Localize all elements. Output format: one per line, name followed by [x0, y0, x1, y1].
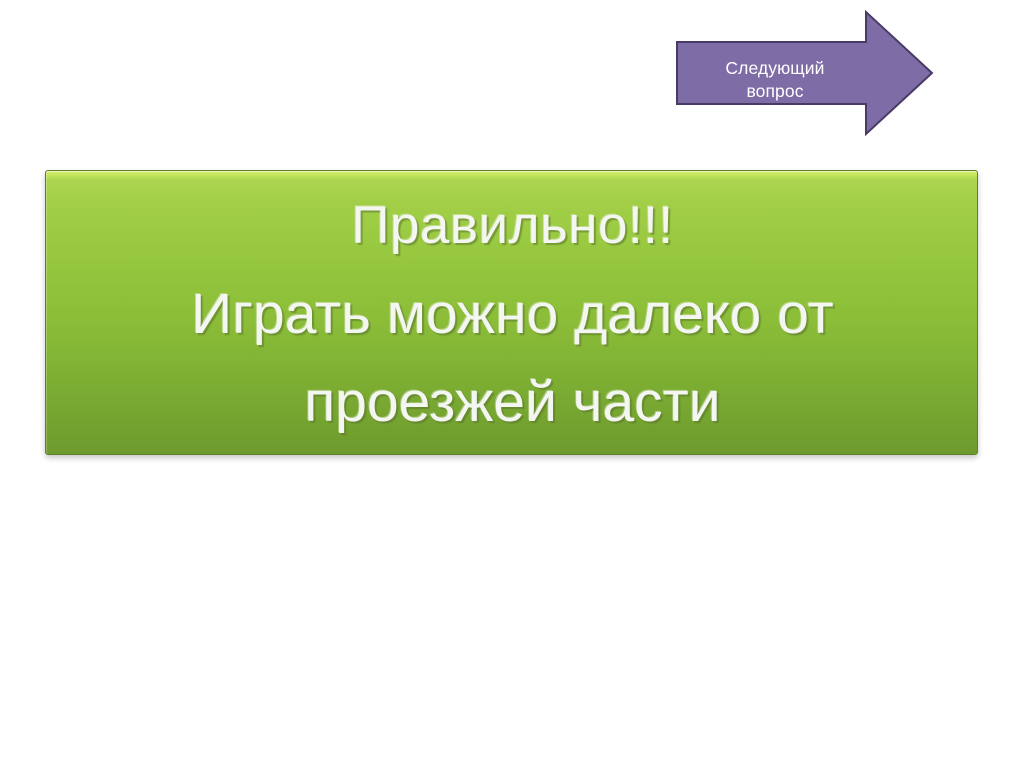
answer-line-1: Правильно!!!	[351, 182, 673, 270]
answer-line-3: проезжей части	[304, 358, 720, 446]
slide-canvas: Следующий вопрос Правильно!!! Играть мож…	[0, 0, 1024, 767]
correct-answer-text: Правильно!!! Играть можно далеко от прое…	[46, 171, 978, 455]
answer-line-2: Играть можно далеко от	[191, 270, 834, 358]
right-arrow-icon	[676, 8, 934, 138]
correct-answer-banner: Правильно!!! Играть можно далеко от прое…	[45, 170, 978, 455]
next-question-button[interactable]: Следующий вопрос	[676, 8, 934, 138]
